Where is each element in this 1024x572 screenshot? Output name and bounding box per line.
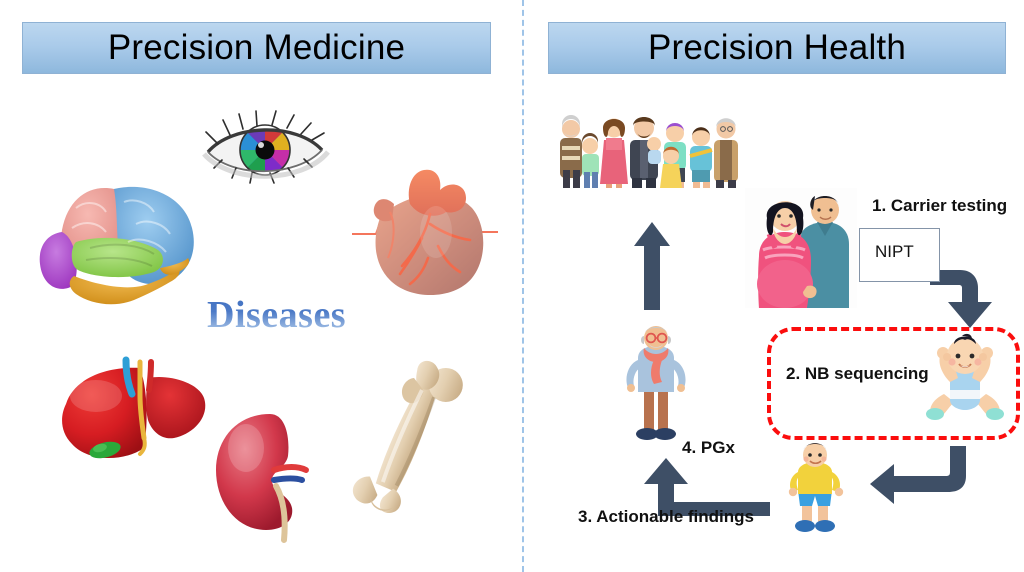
left-panel-title-banner: Precision Medicine <box>22 22 491 74</box>
baby-illustration <box>924 334 1006 426</box>
slide-canvas: Precision Medicine Precision Health <box>0 0 1024 572</box>
child-illustration <box>782 444 850 540</box>
panel-divider <box>522 0 524 572</box>
step-3-label: 3. Actionable findings <box>578 507 754 527</box>
brain-illustration <box>32 172 210 320</box>
bone-illustration <box>344 356 470 520</box>
kidney-illustration <box>206 404 326 550</box>
step-1-label: 1. Carrier testing <box>872 196 1007 216</box>
diseases-label: Diseases <box>207 293 346 337</box>
left-panel-title: Precision Medicine <box>108 28 405 68</box>
right-panel-title: Precision Health <box>648 28 906 68</box>
eye-illustration <box>192 108 338 192</box>
step-4-label: 4. PGx <box>682 438 735 458</box>
arrow-up-to-family <box>632 222 672 310</box>
elderly-man-illustration <box>620 324 692 446</box>
pregnant-couple-illustration <box>745 188 857 308</box>
family-group-illustration <box>548 104 746 188</box>
step-2-label: 2. NB sequencing <box>786 364 929 384</box>
nipt-label: NIPT <box>875 242 914 262</box>
heart-illustration <box>350 162 500 302</box>
right-panel-title-banner: Precision Health <box>548 22 1006 74</box>
liver-illustration <box>52 352 222 482</box>
arrow-left-to-child <box>870 446 970 508</box>
